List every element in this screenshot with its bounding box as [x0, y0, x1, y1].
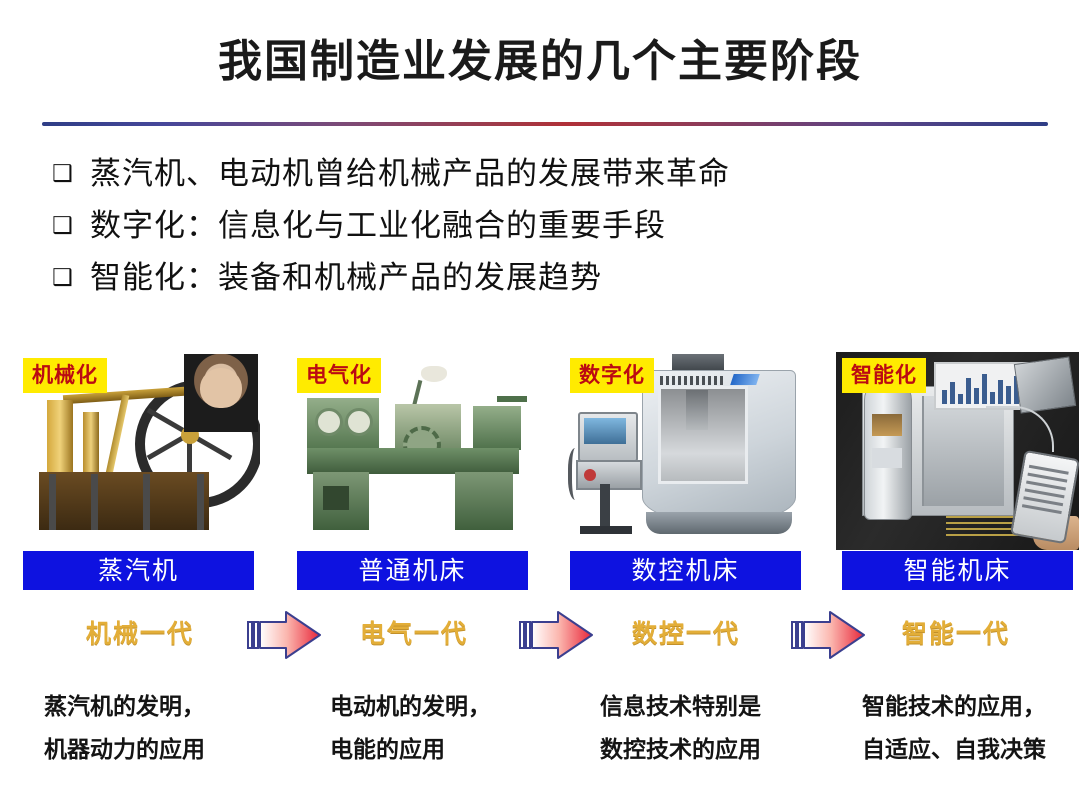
page-title: 我国制造业发展的几个主要阶段: [0, 34, 1080, 90]
stage-caption-cnc-machine: 数控机床: [570, 551, 801, 590]
cnc-pendant-stand-shape: [600, 484, 610, 532]
description-line: 电能的应用: [330, 729, 580, 772]
cylinder-shape: [83, 412, 99, 478]
tailstock-shape: [473, 406, 521, 450]
lathe-bed-shape: [307, 448, 519, 474]
description-row: 蒸汽机的发明， 机器动力的应用 电动机的发明， 电能的应用 信息技术特别是 数控…: [0, 686, 1080, 796]
stage-badge-mechanization: 机械化: [23, 358, 107, 393]
column-window-shape: [872, 414, 902, 436]
connecting-rod-shape: [104, 394, 130, 483]
bullet-text-2: 数字化：信息化与工业化融合的重要手段: [90, 200, 666, 252]
bullet-text-3: 智能化：装备和机械产品的发展趋势: [90, 252, 602, 304]
dial-shape: [345, 408, 373, 436]
bullet-item-1: ❑ 蒸汽机、电动机曾给机械产品的发展带来革命: [52, 148, 1032, 200]
description-line: 机器动力的应用: [44, 729, 294, 772]
description-intelligentization: 智能技术的应用， 自适应、自我决策: [862, 686, 1080, 772]
generation-label-electrical: 电气一代: [324, 612, 504, 656]
right-pedestal-shape: [455, 472, 513, 530]
bullet-square-icon: ❑: [52, 252, 90, 304]
bullet-text-1: 蒸汽机、电动机曾给机械产品的发展带来革命: [90, 148, 730, 200]
motor-box-shape: [323, 486, 349, 510]
stage-caption-smart-machine: 智能机床: [842, 551, 1073, 590]
conventional-lathe-photo: 电气化: [291, 352, 534, 550]
stage-arrow-1-icon: [246, 610, 324, 660]
description-line: 数控技术的应用: [600, 729, 850, 772]
stage-panel-electrification: 电气化 普通机床: [291, 352, 534, 592]
cnc-machine-photo: 数字化: [564, 352, 807, 550]
engine-legs-shape: [47, 474, 207, 530]
bullet-square-icon: ❑: [52, 148, 90, 200]
generation-label-cnc: 数控一代: [596, 612, 776, 656]
stage-badge-intelligentization: 智能化: [842, 358, 926, 393]
description-mechanization: 蒸汽机的发明， 机器动力的应用: [44, 686, 294, 772]
description-line: 蒸汽机的发明，: [44, 686, 294, 729]
cnc-screen-shape: [584, 418, 626, 444]
description-electrification: 电动机的发明， 电能的应用: [330, 686, 580, 772]
stage-panel-digitalization: 数字化 数控机床: [564, 352, 807, 592]
stage-badge-electrification: 电气化: [297, 358, 381, 393]
work-lamp-shape: [421, 366, 447, 382]
title-divider: [42, 122, 1048, 126]
boiler-shape: [47, 400, 73, 478]
bullet-item-3: ❑ 智能化：装备和机械产品的发展趋势: [52, 252, 1032, 304]
tailstock-handle-shape: [497, 396, 527, 402]
stage-badge-digitalization: 数字化: [570, 358, 654, 393]
description-line: 智能技术的应用，: [862, 686, 1080, 729]
cnc-spindle-shape: [686, 390, 708, 430]
description-digitalization: 信息技术特别是 数控技术的应用: [600, 686, 850, 772]
column-display-shape: [872, 448, 902, 468]
description-line: 电动机的发明，: [330, 686, 580, 729]
generation-label-intelligent: 智能一代: [866, 612, 1046, 656]
cnc-logo-shape: [730, 374, 760, 385]
generation-label-mechanical: 机械一代: [50, 612, 230, 656]
cnc-pendant-foot-shape: [580, 526, 632, 534]
cnc-base-shape: [646, 512, 792, 534]
stage-panel-intelligentization: 智能化 智能机床: [836, 352, 1079, 592]
smart-machine-photo: 智能化: [836, 352, 1079, 550]
bullet-square-icon: ❑: [52, 200, 90, 252]
stage-caption-steam-engine: 蒸汽机: [23, 551, 254, 590]
stage-caption-conventional-lathe: 普通机床: [297, 551, 528, 590]
james-watt-portrait: [184, 354, 258, 432]
stage-panel-mechanization: 机械化 蒸汽机: [17, 352, 260, 592]
stage-panel-row: 机械化 蒸汽机 电气化 普通机床: [0, 352, 1080, 592]
description-line: 自适应、自我决策: [862, 729, 1080, 772]
workpiece-render-shape: [1014, 356, 1076, 413]
stage-arrow-2-icon: [518, 610, 596, 660]
stage-arrow-3-icon: [790, 610, 868, 660]
dial-shape: [315, 408, 343, 436]
cnc-brand-text-shape: [660, 376, 726, 385]
generation-row: 机械一代 电气一代: [0, 604, 1080, 668]
description-line: 信息技术特别是: [600, 686, 850, 729]
bullet-item-2: ❑ 数字化：信息化与工业化融合的重要手段: [52, 200, 1032, 252]
bullet-list: ❑ 蒸汽机、电动机曾给机械产品的发展带来革命 ❑ 数字化：信息化与工业化融合的重…: [52, 148, 1032, 304]
steam-engine-photo: 机械化: [17, 352, 260, 550]
